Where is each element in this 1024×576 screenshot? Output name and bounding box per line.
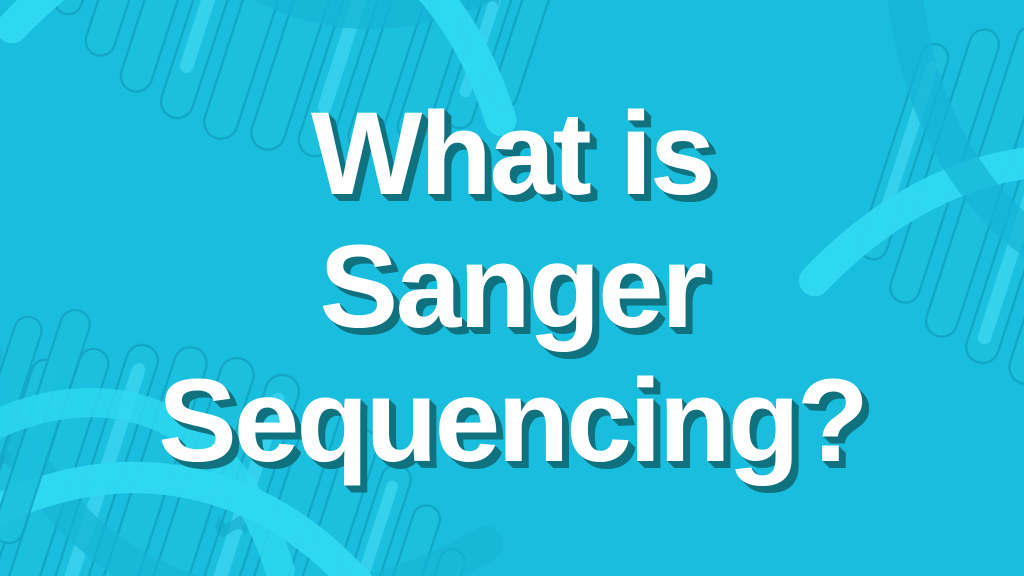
- slide-canvas: What is Sanger Sequencing?: [0, 0, 1024, 576]
- title-line-3: Sequencing?: [158, 364, 866, 480]
- title-line-2: Sanger: [319, 230, 704, 346]
- title-line-1: What is: [311, 97, 713, 213]
- title-block: What is Sanger Sequencing?: [0, 0, 1024, 576]
